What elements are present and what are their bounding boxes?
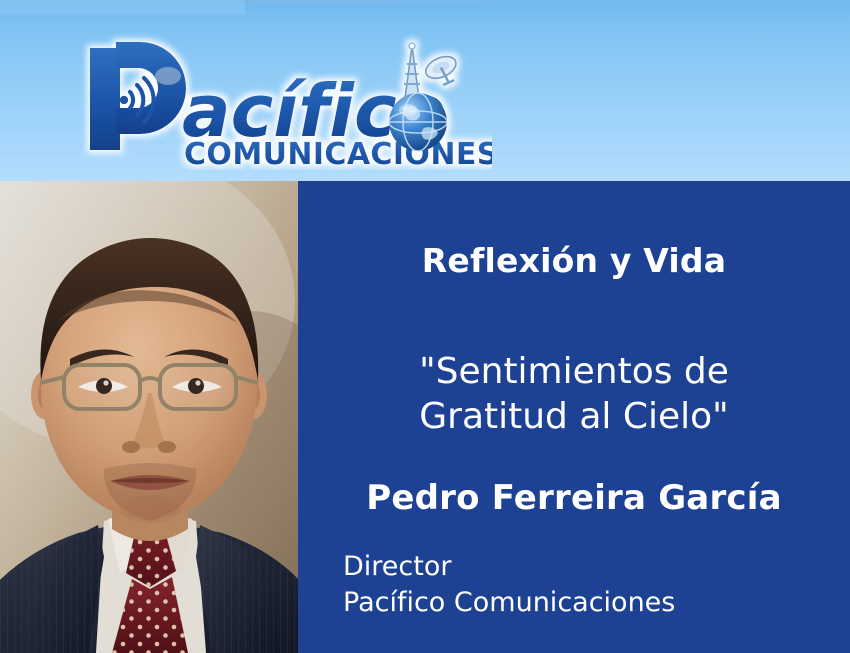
logo-subbrand-text: COMUNICACIONES (184, 137, 492, 170)
quote-line-2: Gratitud al Cielo" (298, 394, 850, 439)
letter-p-mark (90, 42, 186, 150)
slide-root: acífico COMUNICACIONES (0, 0, 850, 653)
author-role-block: Director Pacífico Comunicaciones (343, 549, 843, 620)
program-title: Reflexión y Vida (298, 243, 850, 279)
speaker-portrait-photo (0, 181, 298, 653)
header-banner: acífico COMUNICACIONES (0, 0, 850, 181)
author-role-title: Director (343, 551, 451, 582)
quote-line-1: "Sentimientos de (419, 351, 729, 392)
globe-icon (389, 93, 447, 151)
text-panel: Reflexión y Vida "Sentimientos de Gratit… (298, 181, 850, 653)
content-area: Reflexión y Vida "Sentimientos de Gratit… (0, 181, 850, 653)
author-organization: Pacífico Comunicaciones (343, 585, 843, 621)
pacifico-logo[interactable]: acífico COMUNICACIONES (72, 30, 492, 170)
banner-tint-block (0, 0, 245, 14)
author-name: Pedro Ferreira García (298, 478, 850, 518)
quote-block: "Sentimientos de Gratitud al Cielo" (298, 349, 850, 439)
